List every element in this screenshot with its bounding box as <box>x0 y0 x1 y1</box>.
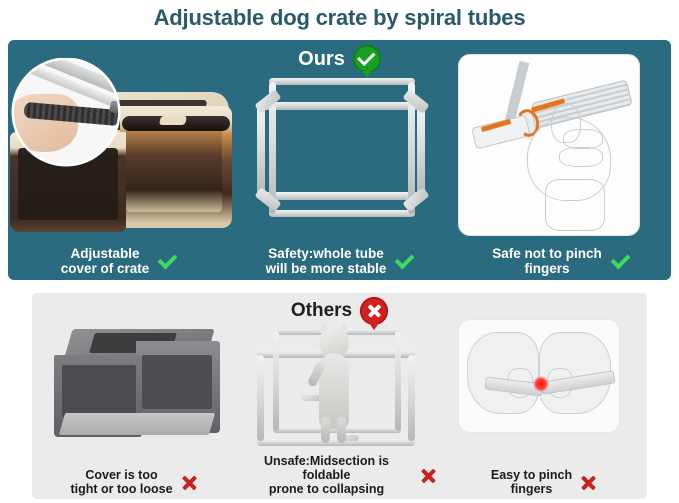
frame-rail-front-bottom <box>257 192 425 200</box>
frame-joint-bottom-right <box>402 187 429 212</box>
ours-column-no-pinch: Safe not to pinch fingers <box>450 40 671 280</box>
frame-rail-front-top <box>257 102 425 110</box>
dog-hind-leg-left <box>321 417 330 443</box>
infographic-page: Adjustable dog crate by spiral tubes Our… <box>0 0 679 503</box>
dog-hind-leg-right <box>337 417 346 443</box>
ours-section-header: Ours <box>8 44 671 74</box>
x-icon <box>419 466 438 485</box>
ours-caption-3: Safe not to pinch fingers <box>450 246 671 276</box>
check-icon <box>156 251 176 271</box>
others-section: Others Cove <box>32 293 647 499</box>
x-icon <box>180 473 199 492</box>
ours-caption-1-text: Adjustable cover of crate <box>61 246 150 276</box>
check-icon <box>393 251 413 271</box>
whole-tube-frame-diagram <box>243 70 439 240</box>
others-caption-2: Unsafe:Midsection is foldable prone to c… <box>237 454 442 496</box>
ours-section: Ours <box>8 40 671 280</box>
page-title-text: Adjustable dog crate by spiral tubes <box>154 5 526 31</box>
gray-crate-floor <box>59 413 215 435</box>
crate-side-door <box>126 126 222 212</box>
weak-frame-rail-front-bottom <box>257 439 415 446</box>
frame-joint-top-right <box>402 89 429 114</box>
crate-handle <box>159 116 187 125</box>
ours-caption-3-text: Safe not to pinch fingers <box>492 246 602 276</box>
x-icon <box>579 473 598 492</box>
badge-pin-tail <box>369 323 379 330</box>
gray-crate-side-mesh <box>142 355 212 409</box>
frame-rail-back-top <box>269 78 415 85</box>
pinch-injury-indicator <box>533 376 549 392</box>
frame-post-front-right <box>417 106 425 196</box>
page-title: Adjustable dog crate by spiral tubes <box>0 0 679 36</box>
check-icon <box>609 251 629 271</box>
hand-holding-spiral-tube-inset <box>14 60 118 164</box>
red-x-circle-icon <box>360 297 388 325</box>
illustration-wrist <box>545 179 605 231</box>
hand-twisting-spiral-tube-illustration <box>458 54 640 236</box>
gray-crate-front-mesh <box>62 365 136 417</box>
inset-hand <box>14 94 78 152</box>
adjustable-dog-crate-photo <box>8 58 236 238</box>
illustration-finger-2 <box>559 147 603 167</box>
frame-post-front-left <box>257 106 265 196</box>
illustration-finger-1 <box>563 129 603 149</box>
ours-label: Ours <box>298 48 345 71</box>
ours-column-adjustable-cover: Adjustable cover of crate <box>8 40 229 280</box>
frame-rail-back-bottom <box>269 210 415 217</box>
others-caption-3: Easy to pinch fingers <box>442 468 647 496</box>
ours-caption-2-text: Safety:whole tube will be more stable <box>266 246 387 276</box>
green-check-circle-icon <box>353 45 381 73</box>
weak-frame-post-front-right <box>408 355 415 441</box>
pinched-fingers-illustration <box>458 319 620 433</box>
weak-frame-post-front-left <box>257 355 264 441</box>
others-caption-1-text: Cover is too tight or too loose <box>70 468 172 496</box>
ours-caption-2: Safety:whole tube will be more stable <box>229 246 450 276</box>
frame-joint-bottom-left <box>254 187 281 212</box>
others-caption-1: Cover is too tight or too loose <box>32 468 237 496</box>
others-section-header: Others <box>32 297 647 325</box>
weak-frame-post-back-right <box>395 331 401 431</box>
others-caption-3-text: Easy to pinch fingers <box>491 468 572 496</box>
badge-pin-tail <box>362 71 372 78</box>
standing-dog-illustration <box>311 327 359 439</box>
ours-caption-1: Adjustable cover of crate <box>8 246 229 276</box>
ours-columns: Adjustable cover of crate <box>8 40 671 280</box>
weak-frame-post-back-left <box>273 331 279 431</box>
dog-in-collapsing-frame-illustration <box>245 323 435 447</box>
others-label: Others <box>291 300 352 322</box>
ours-column-stable-tube: Safety:whole tube will be more stable <box>229 40 450 280</box>
others-caption-2-text: Unsafe:Midsection is foldable prone to c… <box>241 454 412 496</box>
gray-fabric-crate-photo <box>52 329 224 441</box>
